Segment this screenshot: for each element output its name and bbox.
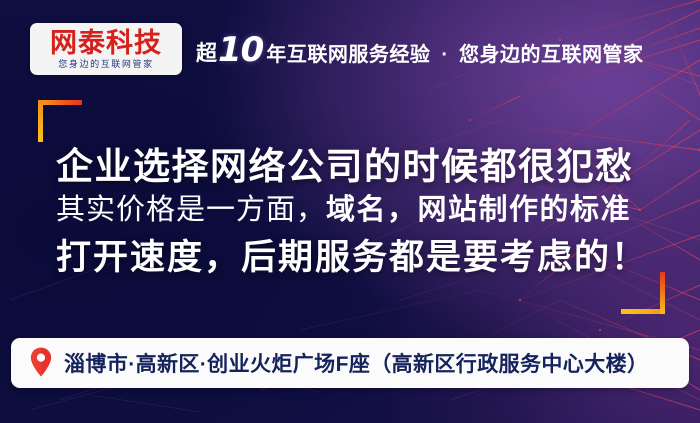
banner-header: 网泰科技 您身边的互联网管家 超 10 年互联网服务经验 · 您身边的互联网管家	[0, 0, 700, 92]
logo-main-text: 网泰科技	[50, 30, 162, 57]
headline-line-2-light: 其实价格是一方面，	[56, 186, 326, 228]
tagline-slogan: 您身边的互联网管家	[459, 38, 644, 67]
tagline-prefix: 超	[196, 37, 217, 67]
headline-line-2: 其实价格是一方面， 域名，网站制作的标准	[56, 186, 631, 228]
header-tagline: 超 10 年互联网服务经验 · 您身边的互联网管家	[196, 30, 644, 70]
headline-line-1: 企业选择网络公司的时候都很犯愁	[56, 136, 634, 190]
headline-block: 企业选择网络公司的时候都很犯愁 其实价格是一方面， 域名，网站制作的标准 打开速…	[0, 96, 700, 326]
headline-line-2-bold: 域名，网站制作的标准	[326, 186, 631, 228]
tagline-years-number: 10	[218, 30, 263, 70]
location-pin-icon	[30, 347, 52, 377]
address-text: 淄博市·高新区·创业火炬广场F座（高新区行政服务中心大楼）	[64, 348, 648, 378]
promo-banner: 网泰科技 您身边的互联网管家 超 10 年互联网服务经验 · 您身边的互联网管家…	[0, 0, 700, 423]
logo-sub-text: 您身边的互联网管家	[58, 60, 153, 69]
company-logo[interactable]: 网泰科技 您身边的互联网管家	[30, 23, 182, 75]
tagline-rest: 年互联网服务经验	[266, 38, 430, 67]
address-bar[interactable]: 淄博市·高新区·创业火炬广场F座（高新区行政服务中心大楼）	[11, 338, 689, 388]
tagline-separator-dot: ·	[441, 44, 448, 67]
headline-line-3: 打开速度，后期服务都是要考虑的！	[56, 229, 648, 280]
